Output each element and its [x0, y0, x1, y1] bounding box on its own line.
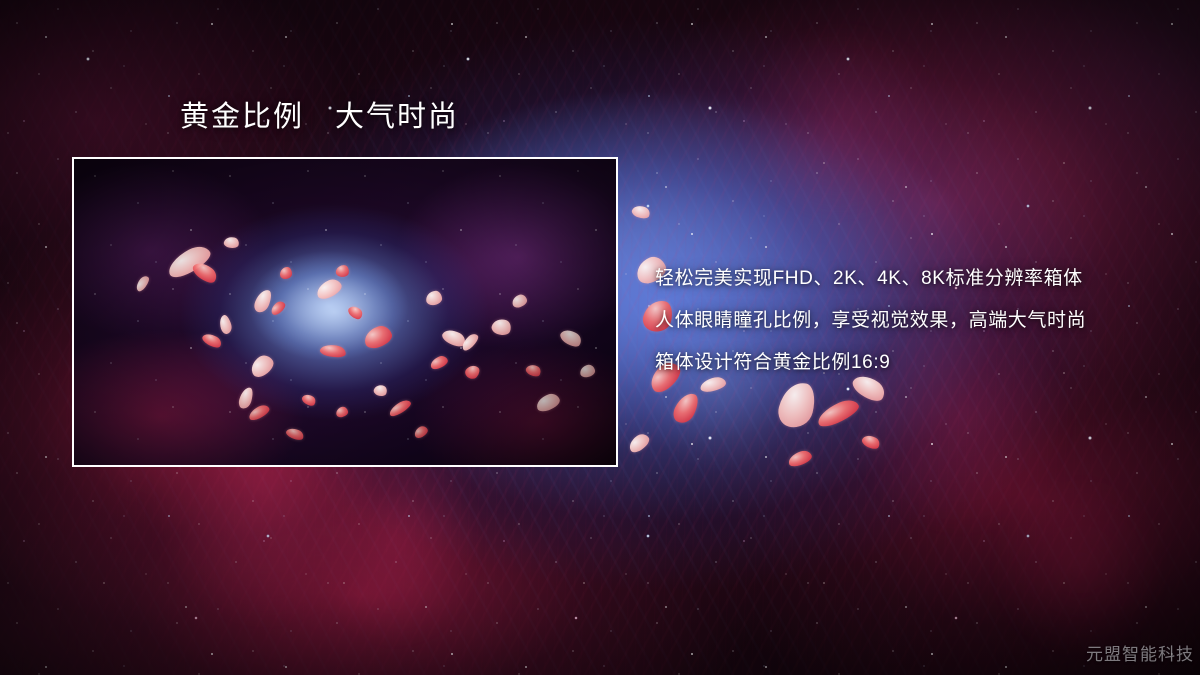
petal-shape	[626, 431, 652, 455]
petal-shape	[630, 203, 651, 220]
copy-line-1: 轻松完美实现FHD、2K、4K、8K标准分辨率箱体	[655, 258, 1155, 300]
petal-shape	[814, 396, 862, 430]
watermark-brand: 元盟智能科技	[1086, 640, 1194, 665]
petal-shape	[670, 389, 702, 427]
framed-product-image	[72, 157, 618, 467]
presentation-slide: 黄金比例 大气时尚 轻松完美实现FHD、2K、4K、8K标准分辨率箱体 人体眼睛…	[0, 0, 1200, 675]
petal-shape	[775, 379, 819, 432]
framed-image-content	[74, 159, 616, 465]
framed-image-vignette	[74, 159, 616, 465]
copy-line-2: 人体眼睛瞳孔比例，享受视觉效果，高端大气时尚	[655, 300, 1155, 342]
copy-line-3: 箱体设计符合黄金比例16:9	[655, 342, 1155, 384]
page-title: 黄金比例 大气时尚	[180, 102, 459, 134]
petal-shape	[787, 449, 814, 469]
petal-shape	[860, 432, 882, 451]
body-copy-block: 轻松完美实现FHD、2K、4K、8K标准分辨率箱体 人体眼睛瞳孔比例，享受视觉效…	[655, 258, 1155, 384]
